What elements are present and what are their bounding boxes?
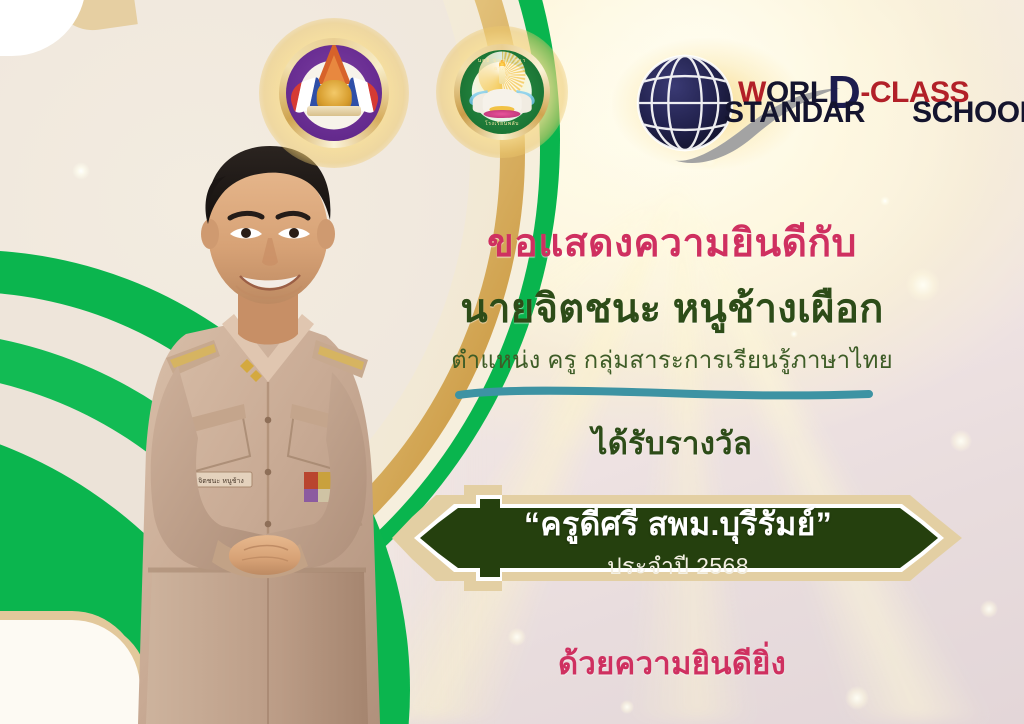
closing-message: ด้วยความยินดียิ่ง — [332, 638, 1012, 688]
received-award-label: ได้รับรางวัล — [332, 418, 1012, 468]
svg-text:จิตชนะ หนูช้าง: จิตชนะ หนูช้าง — [198, 477, 244, 485]
congratulation-poster: จิตชนะ หนูช้าง — [0, 0, 1024, 724]
congratulations-heading: ขอแสดงความยินดีกับ — [332, 212, 1012, 274]
award-year: ประจำปี 2568 — [390, 549, 966, 585]
teal-underline — [455, 386, 873, 404]
award-title: “ครูดีศรี สพม.บุรีรัมย์” — [390, 499, 966, 550]
award-badge: “ครูดีศรี สพม.บุรีรัมย์” ประจำปี 2568 — [390, 473, 966, 603]
recipient-position: ตำแหน่ง ครู กลุ่มสาระการเรียนรู้ภาษาไทย — [332, 340, 1012, 379]
recipient-name: นายจิตชนะ หนูช้างเผือก — [332, 276, 1012, 340]
